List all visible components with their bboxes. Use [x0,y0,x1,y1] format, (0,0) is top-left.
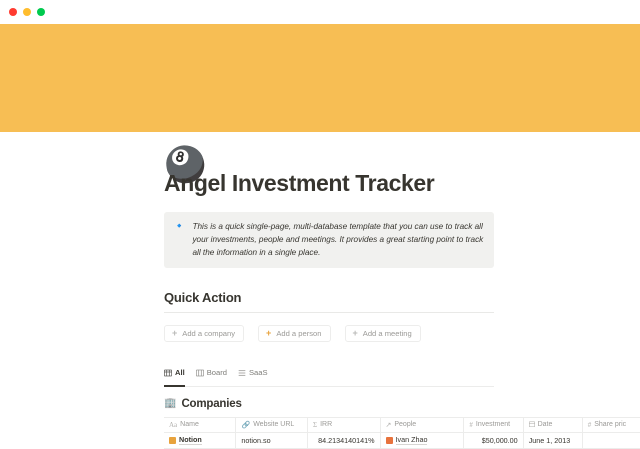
add-person-button[interactable]: + Add a person [258,325,330,342]
window-close-button[interactable] [9,8,17,16]
cell-date[interactable]: June 1, 2013 [524,433,583,448]
column-label: Share pric [594,421,626,428]
tab-board[interactable]: Board [196,364,227,387]
quick-action-buttons: + Add a company + Add a person + Add a m… [164,325,564,342]
plus-icon: + [172,329,177,338]
database-title[interactable]: 🏢 Companies [164,398,564,410]
tab-all[interactable]: All [164,364,185,387]
column-label: Investment [476,421,510,428]
column-header-share-price[interactable]: # Share pric [583,418,640,432]
cell-investment[interactable]: $50,000.00 [464,433,523,448]
column-header-people[interactable]: ↗ People [381,418,465,432]
plus-icon: + [266,329,271,338]
column-header-name[interactable]: Aa Name [164,418,236,432]
page-cover-banner[interactable] [0,24,640,132]
companies-table: Aa Name 🔗 Website URL Σ IRR ↗ People # [164,417,640,449]
column-header-irr[interactable]: Σ IRR [308,418,380,432]
quick-action-heading: Quick Action [164,290,564,305]
cell-irr[interactable]: 84.2134140141% [308,433,381,448]
tab-saas-label: SaaS [249,368,268,377]
add-person-label: Add a person [276,329,321,338]
database-name: Companies [181,398,241,410]
calendar-icon [529,421,535,429]
person-avatar-icon [386,437,393,444]
number-icon: # [588,421,592,429]
window-titlebar [0,0,640,24]
window-minimize-button[interactable] [23,8,31,16]
column-header-website-url[interactable]: 🔗 Website URL [236,418,308,432]
investment-value: $50,000.00 [482,436,518,445]
add-meeting-button[interactable]: + Add a meeting [345,325,421,342]
table-header-row: Aa Name 🔗 Website URL Σ IRR ↗ People # [164,418,640,433]
company-name: Notion [179,435,202,445]
column-label: People [394,421,416,428]
page-title: Angel Investment Tracker [164,170,564,198]
column-header-date[interactable]: Date [524,418,583,432]
tab-saas[interactable]: SaaS [238,364,268,387]
add-company-label: Add a company [182,329,235,338]
table-view-icon [164,364,172,382]
table-row[interactable]: Notion notion.so 84.2134140141% Ivan Zha… [164,433,640,449]
link-icon: 🔗 [241,421,250,429]
section-divider [164,312,494,313]
window-maximize-button[interactable] [37,8,45,16]
page-file-icon [169,437,176,444]
column-label: IRR [320,421,332,428]
list-view-icon [238,364,246,382]
cell-people[interactable]: Ivan Zhao [381,433,465,448]
website-url: notion.so [241,436,270,445]
add-meeting-label: Add a meeting [363,329,412,338]
column-label: Name [180,421,199,428]
person-name: Ivan Zhao [396,435,428,445]
tab-board-label: Board [207,368,227,377]
office-building-icon: 🏢 [164,399,176,409]
plus-icon: + [353,329,358,338]
blue-flag-icon: 🔹 [173,220,185,233]
cell-name[interactable]: Notion [164,433,236,448]
add-company-button[interactable]: + Add a company [164,325,244,342]
relation-arrow-icon: ↗ [386,421,392,429]
page-body: 🎱 Angel Investment Tracker 🔹 This is a q… [0,170,640,449]
irr-value: 84.2134140141% [318,436,374,445]
tab-all-label: All [175,368,185,377]
column-header-investment[interactable]: # Investment [464,418,523,432]
database-view-tabs: All Board SaaS [164,364,494,387]
person-chip[interactable]: Ivan Zhao [386,435,428,445]
date-value: June 1, 2013 [529,436,571,445]
column-label: Website URL [253,421,294,428]
column-label: Date [538,421,553,428]
cell-website-url[interactable]: notion.so [236,433,307,448]
number-icon: # [469,421,473,429]
cell-share-price[interactable] [583,433,640,448]
board-view-icon [196,364,204,382]
callout-text: This is a quick single-page, multi-datab… [192,220,484,259]
callout-block: 🔹 This is a quick single-page, multi-dat… [164,212,494,268]
formula-icon: Σ [313,421,317,429]
text-type-icon: Aa [169,421,177,429]
